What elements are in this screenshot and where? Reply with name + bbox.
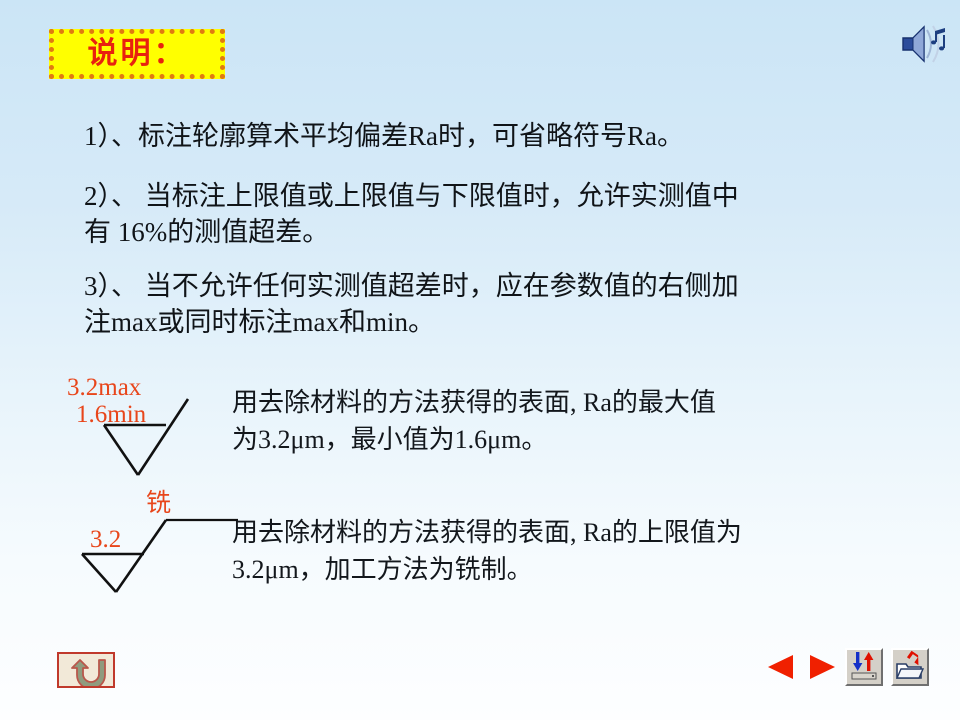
note-3-line-2: 注max或同时标注max和min。 bbox=[84, 304, 914, 340]
explanation-1-line-1: 用去除材料的方法获得的表面, Ra的最大值 bbox=[232, 388, 716, 417]
return-u-turn-icon bbox=[59, 654, 113, 686]
open-folder-button[interactable] bbox=[891, 648, 929, 686]
sort-updown-button[interactable] bbox=[845, 648, 883, 686]
next-slide-button[interactable] bbox=[805, 652, 839, 682]
return-u-turn-button[interactable] bbox=[57, 652, 115, 688]
symbol-method-label: 铣 bbox=[146, 490, 171, 517]
slide-canvas: 说明： 1）、标注轮廓算术平均偏差Ra时，可省略符号Ra。 2）、 当标注上限值… bbox=[0, 0, 960, 720]
symbol-lower-value: 1.6min bbox=[76, 401, 146, 428]
prev-slide-button[interactable] bbox=[764, 652, 798, 682]
surface-symbol-max-min: 3.2max 1.6min bbox=[62, 372, 237, 477]
note-paragraph-1: 1）、标注轮廓算术平均偏差Ra时，可省略符号Ra。 bbox=[84, 118, 934, 154]
symbol-upper-value: 3.2max bbox=[67, 374, 141, 401]
explanation-2-line-2: 3.2μm，加工方法为铣制。 bbox=[232, 551, 932, 588]
title-box: 说明： bbox=[49, 29, 225, 79]
sort-up-down-arrows-icon bbox=[848, 650, 880, 682]
note-paragraph-3: 3）、 当不允许任何实测值超差时，应在参数值的右侧加 注max或同时标注max和… bbox=[84, 268, 914, 340]
explanation-1: 用去除材料的方法获得的表面, Ra的最大值 为3.2μm，最小值为1.6μm。 bbox=[232, 384, 932, 458]
explanation-2-line-1: 用去除材料的方法获得的表面, Ra的上限值为 bbox=[232, 518, 742, 547]
page-title: 说明： bbox=[88, 39, 187, 69]
folder-open-arrow-icon bbox=[894, 650, 926, 682]
note-paragraph-2: 2）、 当标注上限值或上限值与下限值时，允许实测值中 有 16%的测值超差。 bbox=[84, 178, 914, 250]
note-3-line-1: 3）、 当不允许任何实测值超差时，应在参数值的右侧加 bbox=[84, 271, 739, 301]
note-1-line-1: 1）、标注轮廓算术平均偏差Ra时，可省略符号Ra。 bbox=[84, 121, 684, 151]
explanation-2: 用去除材料的方法获得的表面, Ra的上限值为 3.2μm，加工方法为铣制。 bbox=[232, 514, 932, 588]
speaker-sound-icon[interactable] bbox=[899, 20, 951, 68]
triangle-left-icon bbox=[764, 652, 798, 682]
explanation-1-line-2: 为3.2μm，最小值为1.6μm。 bbox=[232, 421, 932, 458]
symbol-upper-value: 3.2 bbox=[90, 526, 121, 553]
triangle-right-icon bbox=[805, 652, 839, 682]
note-2-line-1: 2）、 当标注上限值或上限值与下限值时，允许实测值中 bbox=[84, 181, 739, 211]
note-2-line-2: 有 16%的测值超差。 bbox=[84, 214, 914, 250]
